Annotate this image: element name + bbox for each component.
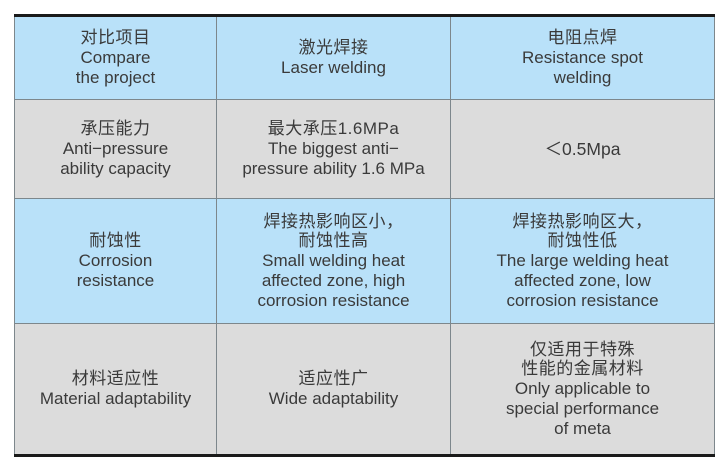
cell-anti-pressure-label-text: 承压能力 Anti−pressure ability capacity xyxy=(21,119,210,178)
table-row: 材料适应性 Material adaptability 适应性广 Wide ad… xyxy=(15,324,715,456)
cell-material-label-text: 材料适应性 Material adaptability xyxy=(21,369,210,408)
page-root: 对比项目 Compare the project 激光焊接 Laser weld… xyxy=(0,0,728,405)
header-cell-laser-welding-text: 激光焊接 Laser welding xyxy=(223,38,444,77)
text-line: 电阻点焊 xyxy=(457,28,708,48)
header-cell-resistance-spot-welding: 电阻点焊 Resistance spot welding xyxy=(451,16,715,100)
text-line: Compare xyxy=(21,48,210,68)
header-cell-resistance-spot-welding-text: 电阻点焊 Resistance spot welding xyxy=(457,28,708,87)
cell-corrosion-laser: 焊接热影响区小， 耐蚀性高 Small welding heat affecte… xyxy=(217,199,451,324)
text-line: pressure ability 1.6 MPa xyxy=(223,159,444,179)
text-line: The large welding heat xyxy=(457,251,708,271)
text-line: ability capacity xyxy=(21,159,210,179)
header-cell-compare-project: 对比项目 Compare the project xyxy=(15,16,217,100)
text-line: resistance xyxy=(21,271,210,291)
text-line: affected zone, low xyxy=(457,271,708,291)
cell-anti-pressure-label: 承压能力 Anti−pressure ability capacity xyxy=(15,100,217,199)
text-line: 材料适应性 xyxy=(21,369,210,389)
cell-corrosion-label: 耐蚀性 Corrosion resistance xyxy=(15,199,217,324)
cell-material-resistance-text: 仅适用于特殊 性能的金属材料 Only applicable to specia… xyxy=(457,340,708,439)
table-header: 对比项目 Compare the project 激光焊接 Laser weld… xyxy=(15,16,715,100)
table-body: 承压能力 Anti−pressure ability capacity 最大承压… xyxy=(15,100,715,456)
text-line: 耐蚀性高 xyxy=(223,231,444,251)
text-line: Laser welding xyxy=(223,58,444,78)
cell-corrosion-laser-text: 焊接热影响区小， 耐蚀性高 Small welding heat affecte… xyxy=(223,212,444,311)
text-line: the project xyxy=(21,68,210,88)
cell-material-laser-text: 适应性广 Wide adaptability xyxy=(223,369,444,408)
cell-anti-pressure-resistance-text: ＜0.5Mpa xyxy=(457,139,708,159)
text-line: 承压能力 xyxy=(21,119,210,139)
table-row: 耐蚀性 Corrosion resistance 焊接热影响区小， 耐蚀性高 S… xyxy=(15,199,715,324)
text-line: affected zone, high xyxy=(223,271,444,291)
text-line: 焊接热影响区大， xyxy=(457,212,708,232)
header-cell-compare-project-text: 对比项目 Compare the project xyxy=(21,28,210,87)
welding-comparison-table: 对比项目 Compare the project 激光焊接 Laser weld… xyxy=(14,14,715,457)
cell-material-resistance: 仅适用于特殊 性能的金属材料 Only applicable to specia… xyxy=(451,324,715,456)
text-line: 耐蚀性 xyxy=(21,231,210,251)
text-line: The biggest anti− xyxy=(223,139,444,159)
text-line: 适应性广 xyxy=(223,369,444,389)
cell-material-label: 材料适应性 Material adaptability xyxy=(15,324,217,456)
text-line: Corrosion xyxy=(21,251,210,271)
text-line: of meta xyxy=(457,419,708,439)
text-line: 激光焊接 xyxy=(223,38,444,58)
text-line: 对比项目 xyxy=(21,28,210,48)
cell-anti-pressure-laser-text: 最大承压1.6MPa The biggest anti− pressure ab… xyxy=(223,119,444,178)
text-line: 最大承压1.6MPa xyxy=(223,119,444,139)
text-line: 焊接热影响区小， xyxy=(223,212,444,232)
cell-material-laser: 适应性广 Wide adaptability xyxy=(217,324,451,456)
text-line: Only applicable to xyxy=(457,379,708,399)
cell-anti-pressure-resistance: ＜0.5Mpa xyxy=(451,100,715,199)
text-line: 仅适用于特殊 xyxy=(457,340,708,360)
cell-corrosion-label-text: 耐蚀性 Corrosion resistance xyxy=(21,231,210,290)
cell-anti-pressure-laser: 最大承压1.6MPa The biggest anti− pressure ab… xyxy=(217,100,451,199)
text-line: Resistance spot xyxy=(457,48,708,68)
text-line: 耐蚀性低 xyxy=(457,231,708,251)
table-header-row: 对比项目 Compare the project 激光焊接 Laser weld… xyxy=(15,16,715,100)
text-line: Anti−pressure xyxy=(21,139,210,159)
text-line: special performance xyxy=(457,399,708,419)
cell-corrosion-resistance-spot: 焊接热影响区大， 耐蚀性低 The large welding heat aff… xyxy=(451,199,715,324)
header-cell-laser-welding: 激光焊接 Laser welding xyxy=(217,16,451,100)
cell-corrosion-resistance-spot-text: 焊接热影响区大， 耐蚀性低 The large welding heat aff… xyxy=(457,212,708,311)
text-line: corrosion resistance xyxy=(223,291,444,311)
text-line: welding xyxy=(457,68,708,88)
text-line: 性能的金属材料 xyxy=(457,359,708,379)
text-line: ＜0.5Mpa xyxy=(457,139,708,159)
text-line: Small welding heat xyxy=(223,251,444,271)
text-line: corrosion resistance xyxy=(457,291,708,311)
text-line: Wide adaptability xyxy=(223,389,444,409)
text-line: Material adaptability xyxy=(21,389,210,409)
table-row: 承压能力 Anti−pressure ability capacity 最大承压… xyxy=(15,100,715,199)
